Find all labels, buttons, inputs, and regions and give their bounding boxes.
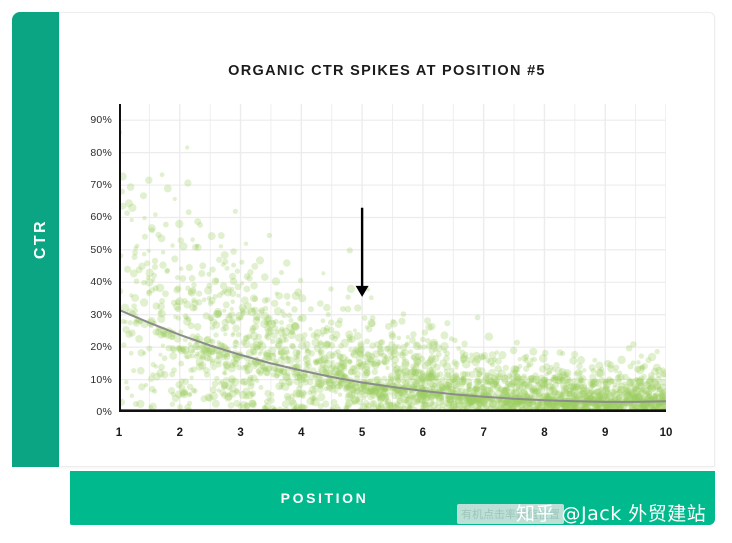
y-tick-label: 60%	[90, 211, 112, 223]
x-tick-label: 8	[541, 427, 547, 439]
y-tick-label: 10%	[90, 374, 112, 386]
x-tick-label: 1	[116, 427, 122, 439]
y-tick-label: 70%	[90, 179, 112, 191]
x-tick-label: 6	[420, 427, 426, 439]
y-tick-label: 20%	[90, 341, 112, 353]
plot-area	[119, 104, 666, 412]
y-axis-tick-labels: 0%10%20%30%40%50%60%70%80%90%	[78, 104, 112, 412]
zhihu-watermark: 知乎 @Jack 外贸建站	[516, 499, 706, 526]
y-axis-title: CTR	[32, 219, 50, 259]
y-tick-label: 40%	[90, 276, 112, 288]
x-tick-label: 3	[237, 427, 243, 439]
y-tick-label: 30%	[90, 309, 112, 321]
annotation-arrow-down	[356, 208, 369, 297]
y-tick-label: 90%	[90, 114, 112, 126]
y-tick-label: 50%	[90, 244, 112, 256]
chart-title: ORGANIC CTR SPIKES AT POSITION #5	[60, 63, 714, 79]
x-tick-label: 10	[660, 427, 673, 439]
y-tick-label: 0%	[96, 406, 112, 418]
x-tick-label: 7	[480, 427, 486, 439]
y-tick-label: 80%	[90, 147, 112, 159]
x-axis-title: POSITION	[281, 490, 369, 506]
scatter-plot-svg	[119, 104, 666, 412]
x-axis-tick-labels: 12345678910	[119, 427, 666, 447]
x-tick-label: 9	[602, 427, 608, 439]
x-tick-label: 2	[177, 427, 183, 439]
x-tick-label: 4	[298, 427, 304, 439]
x-tick-label: 5	[359, 427, 365, 439]
screenshot-root: CTR ORGANIC CTR SPIKES AT POSITION #5 0%…	[0, 0, 732, 543]
